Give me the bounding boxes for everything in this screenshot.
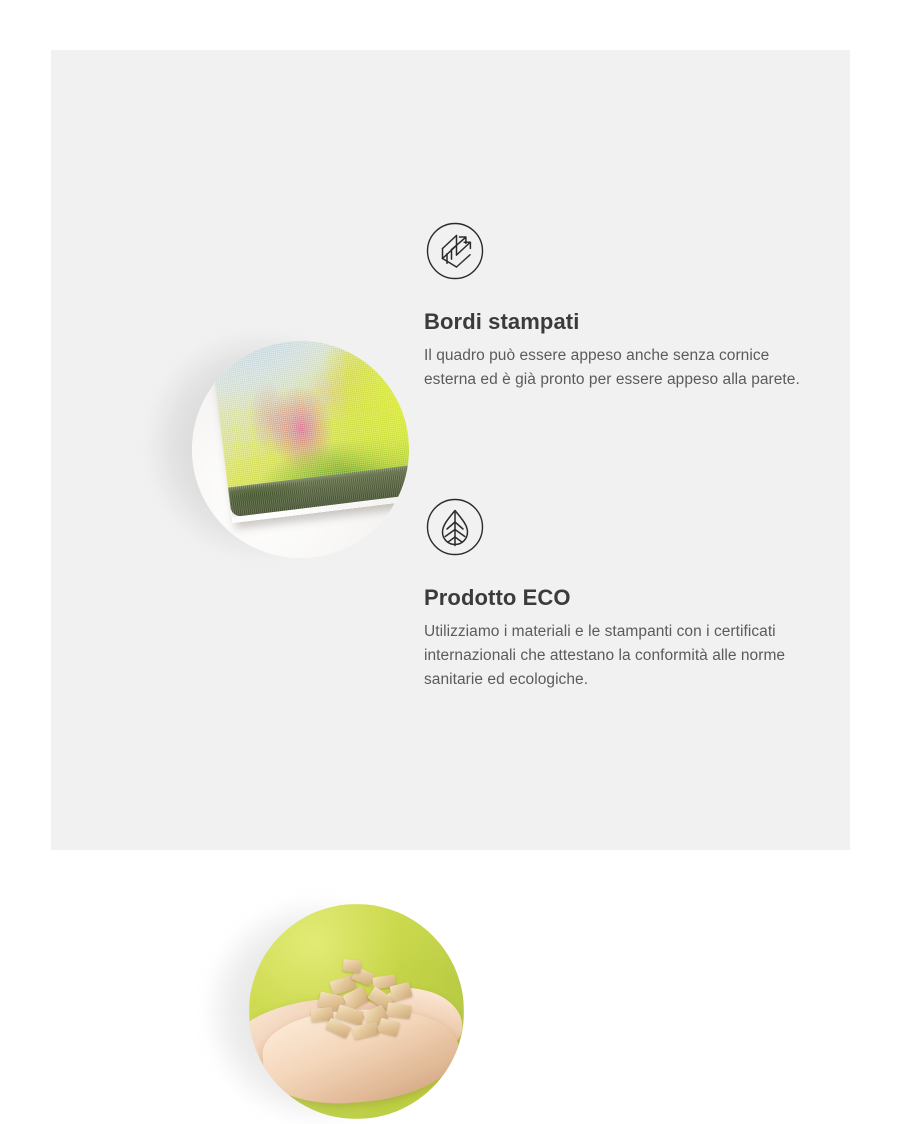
feature-description: Utilizziamo i materiali e le stampanti c… xyxy=(424,620,804,692)
feature-block-printed-edges: Bordi stampati Il quadro può essere appe… xyxy=(51,180,850,480)
hands-with-wood-chips-photo xyxy=(249,904,464,1119)
leaf-icon xyxy=(426,498,484,556)
feature-title: Prodotto ECO xyxy=(424,584,804,612)
infographic-page: Bordi stampati Il quadro può essere appe… xyxy=(0,0,900,900)
feature-text-printed-edges: Bordi stampati Il quadro può essere appe… xyxy=(424,222,804,392)
printed-edges-icon xyxy=(426,222,484,280)
feature-text-eco-product: Prodotto ECO Utilizziamo i materiali e l… xyxy=(424,498,804,692)
feature-description: Il quadro può essere appeso anche senza … xyxy=(424,344,804,392)
feature-block-eco-product: Prodotto ECO Utilizziamo i materiali e l… xyxy=(51,460,850,760)
content-panel: Bordi stampati Il quadro può essere appe… xyxy=(51,50,850,850)
feature-title: Bordi stampati xyxy=(424,308,804,336)
